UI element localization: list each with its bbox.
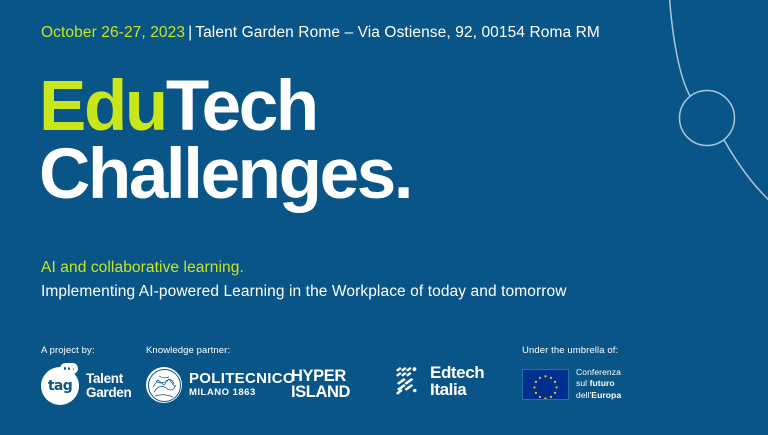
arc-lower-segment [724,140,768,216]
header-separator: | [185,24,195,41]
event-header-line: October 26-27, 2023|Talent Garden Rome –… [41,24,600,42]
event-date: October 26-27, 2023 [41,24,185,41]
partner-group-talent-garden: A project by: tag Talent Garden [41,345,131,405]
edtech-italia-word1: Edtech [430,364,484,381]
title-line2: Challenges. [39,141,411,209]
talent-garden-word2: Garden [86,386,131,400]
subtitle-line-1: AI and collaborative learning. [41,259,244,277]
subtitle-line-2: Implementing AI-powered Learning in the … [41,283,567,301]
partner-group-politecnico: Knowledge partner: POL [146,345,295,403]
eu-programme-wordmark: Conferenza sul futuro dell'Europa [576,367,621,401]
edtech-italia-wordmark: Edtech Italia [430,364,484,398]
eu-line-3: dell'Europa [576,390,621,401]
politecnico-milano-logo: POLITECNICO MILANO 1863 [146,367,295,403]
tag-wordmark: tag [48,379,72,393]
event-venue: Talent Garden Rome – Via Ostiense, 92, 0… [195,24,600,41]
hyper-island-word2: ISLAND [291,384,350,400]
talent-garden-logo: tag Talent Garden [41,367,131,405]
title-highlight-word: Edu [39,67,166,146]
partner-group-hyper-island: HYPER ISLAND [291,368,350,400]
arc-upper-segment [669,0,690,96]
caption-knowledge-partner: Knowledge partner: [146,345,295,356]
eu-line-2: sul futuro [576,378,621,389]
eu-line-2-plain: sul [576,378,590,388]
eu-flag-icon [522,369,569,400]
conferenza-futuro-europa-logo: Conferenza sul futuro dell'Europa [522,367,621,401]
page-title: EduTech Challenges. [39,73,411,209]
politecnico-word1: POLITECNICO [189,371,295,387]
talent-garden-wordmark: Talent Garden [86,372,131,400]
eu-line-3-bold: Europa [591,390,621,400]
politecnico-seal-icon [146,367,182,403]
edtech-italia-mark-icon [395,366,425,396]
eu-line-2-bold: futuro [590,378,615,388]
tag-dots-icon [60,363,78,374]
eu-line-3-plain: dell' [576,390,591,400]
partner-group-edtech-italia: Edtech Italia [395,364,484,398]
eu-line-1: Conferenza [576,367,621,378]
partner-logos-footer: A project by: tag Talent Garden Knowledg… [0,340,768,435]
politecnico-word2: MILANO 1863 [189,387,295,398]
caption-a-project-by: A project by: [41,345,131,356]
arc-circle-node [680,91,735,146]
decorative-arc-graphic [588,0,768,260]
caption-under-the-umbrella-of: Under the umbrella of: [522,345,621,356]
hyper-island-word1: HYPER [291,368,350,384]
tag-bubble-icon: tag [41,367,79,405]
hyper-island-logo: HYPER ISLAND [291,368,350,400]
politecnico-wordmark: POLITECNICO MILANO 1863 [189,371,295,398]
talent-garden-word1: Talent [86,372,131,386]
edtech-italia-word2: Italia [430,381,484,398]
partner-group-european-union: Under the umbrella of: [522,345,621,401]
title-line1-rest: Tech [166,67,317,146]
poster-canvas: October 26-27, 2023|Talent Garden Rome –… [0,0,768,435]
